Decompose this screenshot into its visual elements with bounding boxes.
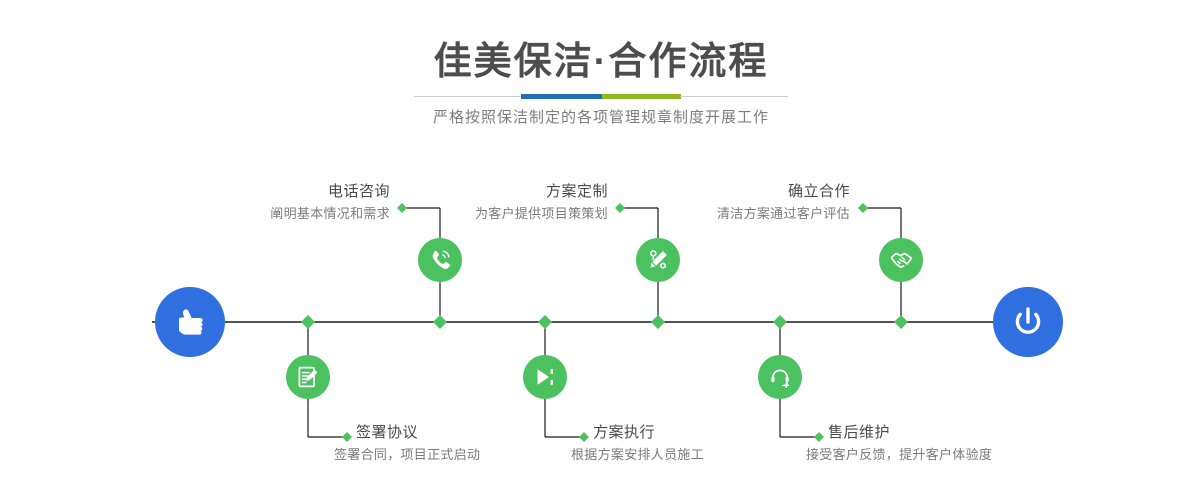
node-diamond-step-4: [538, 315, 552, 329]
step-4-desc: 根据方案安排人员施工: [571, 445, 704, 465]
step-6-label: 售后维护 接受客户反馈，提升客户体验度: [828, 423, 992, 465]
label-diamond-step-3: [615, 203, 625, 213]
step-3-icon-badge[interactable]: [636, 238, 680, 282]
flow-start-badge[interactable]: [155, 287, 225, 357]
label-diamond-step-5: [858, 203, 868, 213]
step-3-title: 方案定制: [475, 182, 608, 202]
step-3-label: 方案定制 为客户提供项目策策划: [475, 182, 608, 224]
label-diamond-step-2: [342, 432, 352, 442]
step-6-title: 售后维护: [828, 423, 992, 443]
step-1-label: 电话咨询 阐明基本情况和需求: [270, 182, 390, 224]
step-5-title: 确立合作: [717, 182, 850, 202]
phone-ring-icon: [427, 247, 453, 273]
step-2-icon-badge[interactable]: [286, 355, 330, 399]
page-subtitle: 严格按照保洁制定的各项管理规章制度开展工作: [0, 106, 1202, 130]
flow-end-badge[interactable]: [993, 287, 1063, 357]
page-title: 佳美保洁·合作流程: [0, 38, 1202, 86]
title-divider: [0, 94, 1202, 100]
handshake-icon: [888, 247, 915, 274]
node-diamond-step-6: [773, 315, 787, 329]
step-3-desc: 为客户提供项目策策划: [475, 204, 608, 224]
divider-line-left: [414, 96, 522, 97]
step-2-desc: 签署合同，项目正式启动: [334, 445, 480, 465]
play-execute-icon: [532, 364, 558, 390]
step-6-icon-badge[interactable]: [758, 355, 802, 399]
step-2-label: 签署协议 签署合同，项目正式启动: [356, 423, 480, 465]
label-diamond-step-4: [579, 432, 589, 442]
step-1-desc: 阐明基本情况和需求: [270, 204, 390, 224]
step-4-icon-badge[interactable]: [523, 355, 567, 399]
step-2-title: 签署协议: [356, 423, 480, 443]
document-pencil-icon: [295, 364, 321, 390]
node-diamond-step-5: [894, 315, 908, 329]
step-4-label: 方案执行 根据方案安排人员施工: [593, 423, 704, 465]
pencil-ruler-icon: [645, 247, 671, 273]
hand-point-right-icon: [170, 302, 210, 342]
step-5-label: 确立合作 清洁方案通过客户评估: [717, 182, 850, 224]
divider-segment-green: [602, 94, 681, 99]
node-diamond-step-2: [301, 315, 315, 329]
step-1-icon-badge[interactable]: [418, 238, 462, 282]
divider-line-right: [680, 96, 788, 97]
headset-support-icon: [767, 364, 793, 390]
label-diamond-step-6: [814, 432, 824, 442]
label-diamond-step-1: [397, 203, 407, 213]
step-5-icon-badge[interactable]: [879, 238, 923, 282]
step-4-title: 方案执行: [593, 423, 704, 443]
node-diamond-step-3: [651, 315, 665, 329]
page-header: 佳美保洁·合作流程 严格按照保洁制定的各项管理规章制度开展工作: [0, 0, 1202, 150]
step-5-desc: 清洁方案通过客户评估: [717, 204, 850, 224]
divider-segment-blue: [521, 94, 602, 99]
process-flow-diagram: 电话咨询 阐明基本情况和需求 方案定制 为客户提供项目策策划 确立合作 清洁方案…: [0, 150, 1202, 502]
step-6-desc: 接受客户反馈，提升客户体验度: [806, 445, 992, 465]
power-icon: [1008, 302, 1048, 342]
step-1-title: 电话咨询: [270, 182, 390, 202]
node-diamond-step-1: [433, 315, 447, 329]
